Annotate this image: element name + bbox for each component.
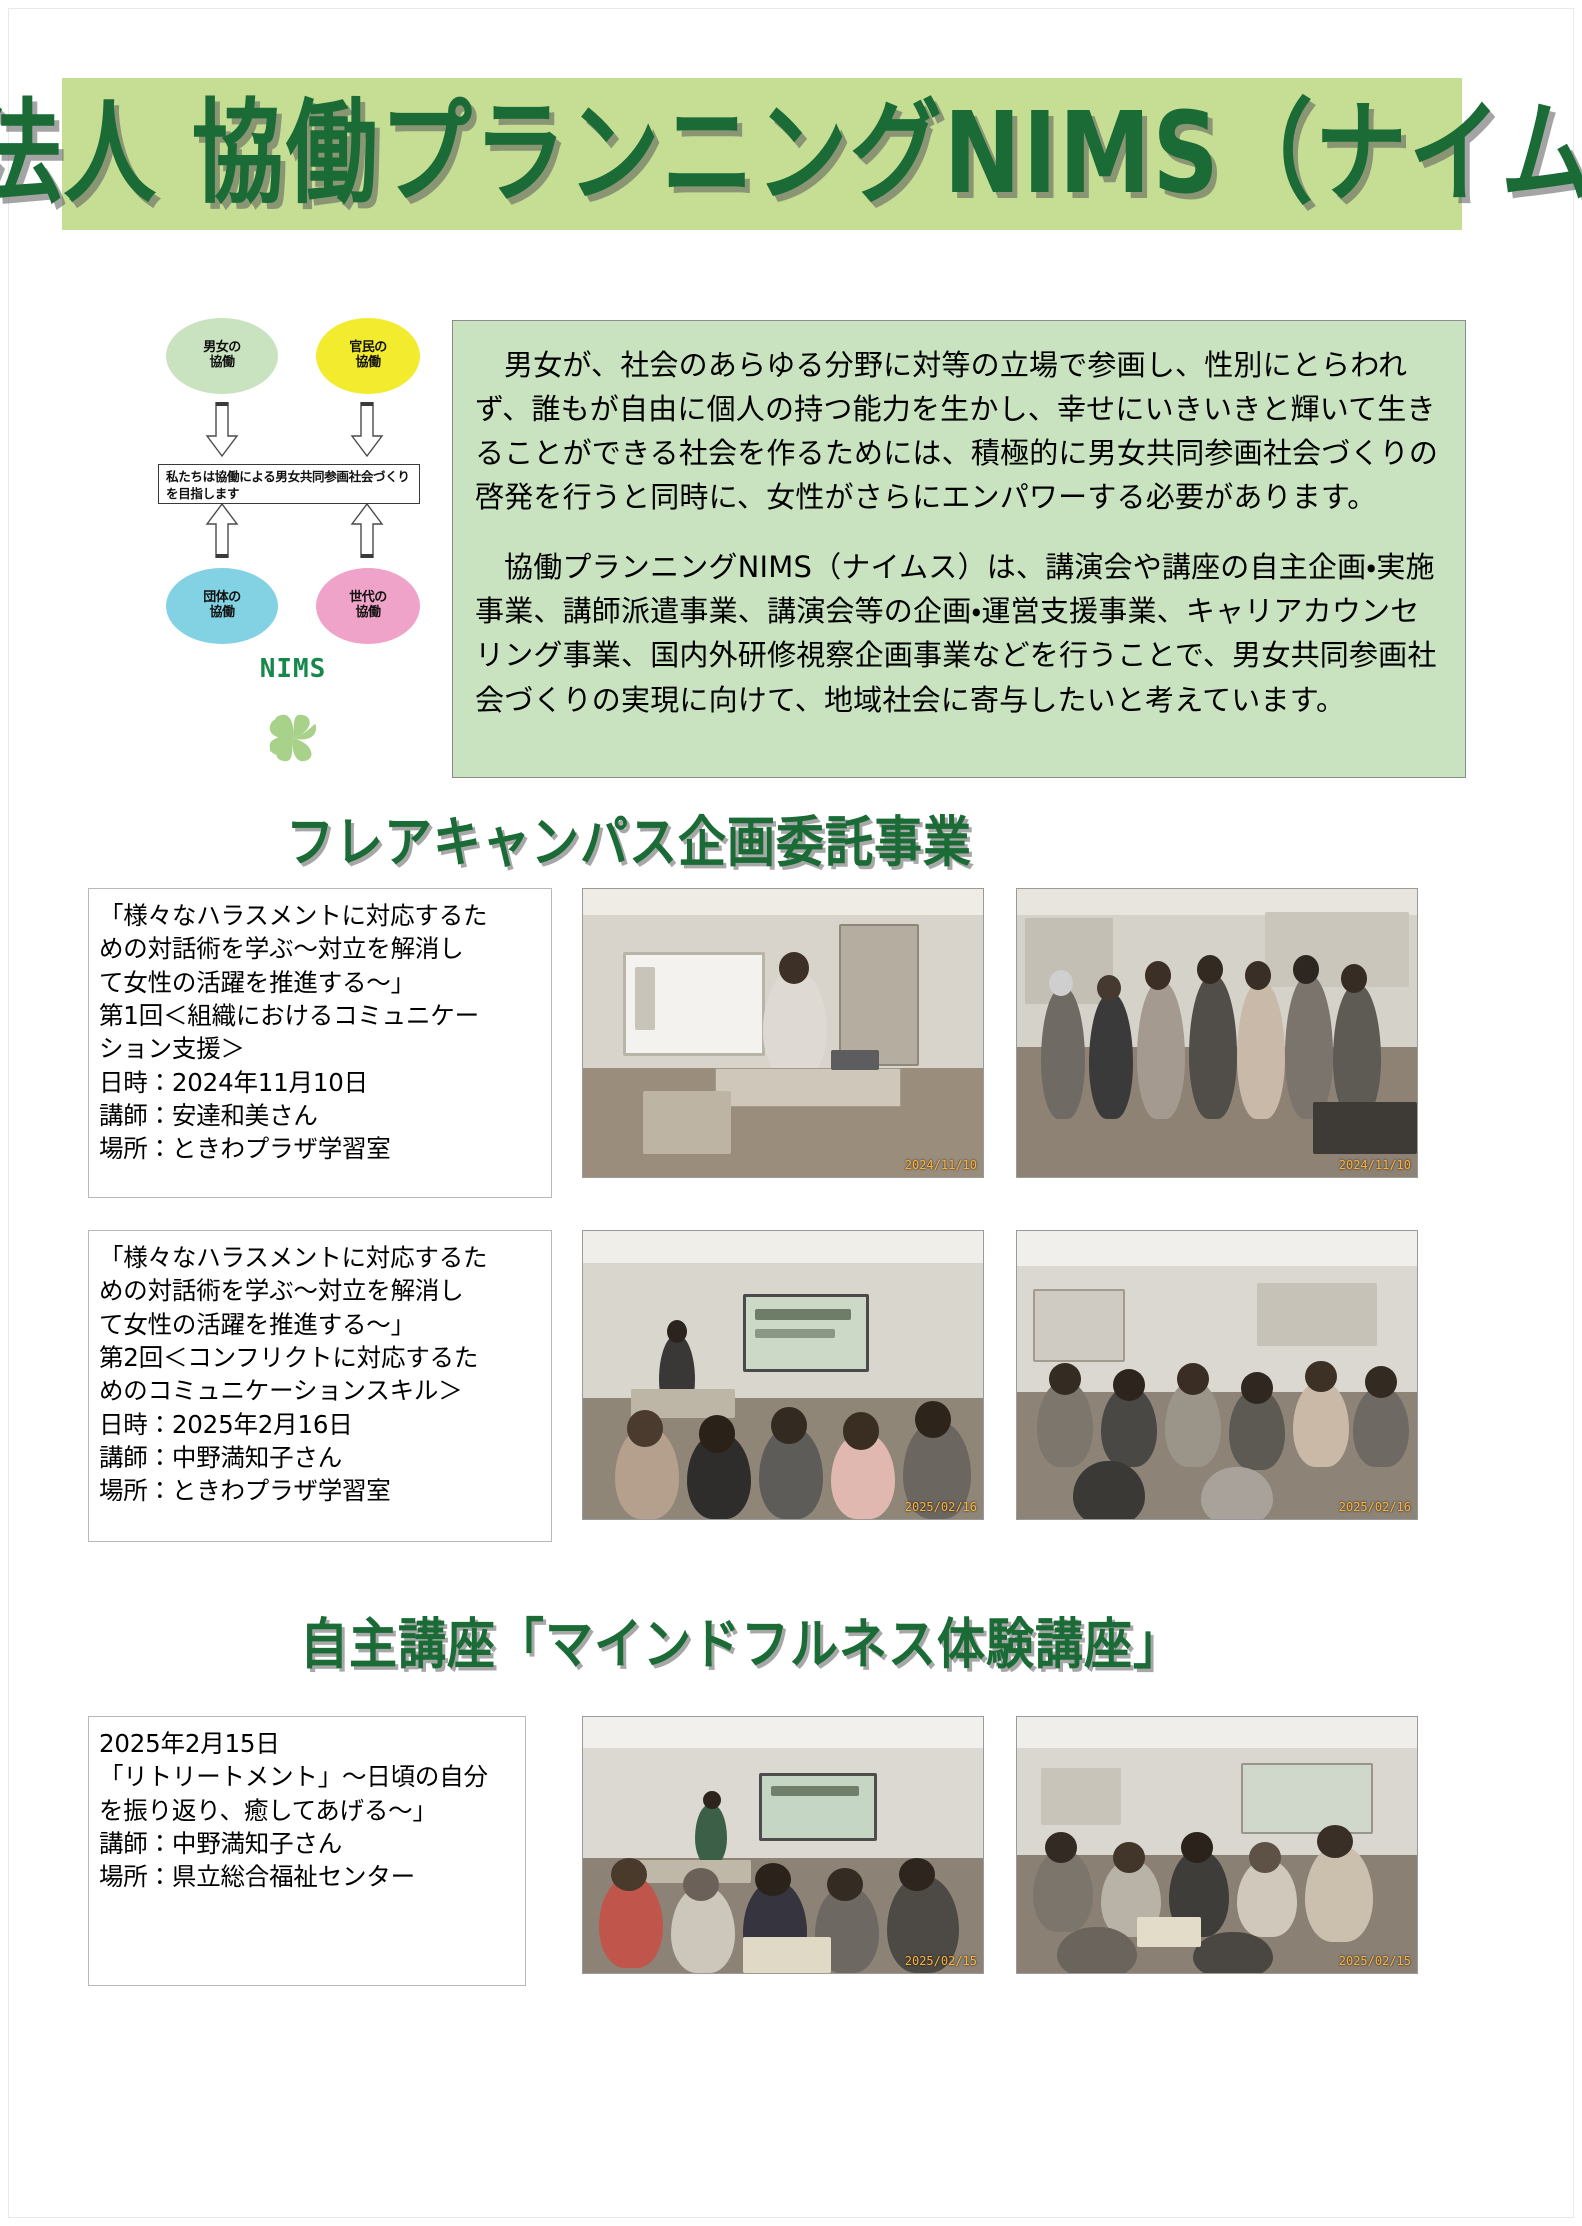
- event-2-photo-1: 2025/02/16: [582, 1230, 984, 1520]
- page-title: NPO法人 協働プランニングNIMS（ナイムス）: [0, 98, 1582, 210]
- event-2-line-1: 「様々なハラスメントに対応するた: [99, 1241, 543, 1274]
- poster-page: NPO法人 協働プランニングNIMS（ナイムス） 男女の 協働 官民の 協働 団…: [0, 0, 1582, 2226]
- event-2-line-3: て女性の活躍を推進する～」: [99, 1308, 543, 1341]
- diagram-center-line2: を目指します: [166, 486, 413, 503]
- diagram-node-danjo-line2: 協働: [203, 356, 241, 371]
- diagram-node-kanmin: 官民の 協働: [316, 318, 420, 394]
- event-3-lecturer: 講師：中野満知子さん: [99, 1827, 517, 1860]
- diagram-center-statement: 私たちは協働による男女共同参画社会づくり を目指します: [158, 464, 420, 504]
- event-3-line-2: 「リトリートメント」～日頃の自分: [99, 1760, 517, 1793]
- event-3-photo-1-timestamp: 2025/02/15: [905, 1954, 977, 1968]
- event-2-date: 日時：2025年2月16日: [99, 1408, 543, 1441]
- diagram-node-danjo-line1: 男女の: [203, 341, 241, 356]
- event-1-photo-1: 2024/11/10: [582, 888, 984, 1178]
- event-1-line-4: 第1回＜組織におけるコミュニケー: [99, 999, 543, 1032]
- event-1-photo-2: 2024/11/10: [1016, 888, 1418, 1178]
- concept-diagram: 男女の 協働 官民の 協働 団体の 協働 世代の 協働: [150, 318, 440, 768]
- event-2-description: 「様々なハラスメントに対応するた めの対話術を学ぶ～対立を解消し て女性の活躍を…: [88, 1230, 552, 1542]
- event-3-date: 2025年2月15日: [99, 1727, 517, 1760]
- diagram-node-dantai-line1: 団体の: [203, 591, 241, 606]
- diagram-node-kanmin-line1: 官民の: [349, 341, 387, 356]
- event-3-venue: 場所：県立総合福祉センター: [99, 1860, 517, 1893]
- event-3-photo-1: 2025/02/15: [582, 1716, 984, 1974]
- nims-logo-text: NIMS: [150, 654, 436, 684]
- section-heading-mindfulness: 自主講座「マインドフルネス体験講座」: [300, 1599, 1182, 1679]
- diagram-node-sedai: 世代の 協働: [316, 568, 420, 644]
- event-3-photo-2-timestamp: 2025/02/15: [1339, 1954, 1411, 1968]
- event-1-lecturer: 講師：安達和美さん: [99, 1099, 543, 1132]
- diagram-node-dantai: 団体の 協働: [166, 568, 278, 644]
- event-2-venue: 場所：ときわプラザ学習室: [99, 1474, 543, 1507]
- event-1-date: 日時：2024年11月10日: [99, 1066, 543, 1099]
- event-1-line-2: めの対話術を学ぶ～対立を解消し: [99, 932, 543, 965]
- event-2-line-2: めの対話術を学ぶ～対立を解消し: [99, 1274, 543, 1307]
- diagram-node-sedai-line1: 世代の: [349, 591, 387, 606]
- event-1-description: 「様々なハラスメントに対応するた めの対話術を学ぶ～対立を解消し て女性の活躍を…: [88, 888, 552, 1198]
- event-3-description: 2025年2月15日 「リトリートメント」～日頃の自分 を振り返り、癒してあげる…: [88, 1716, 526, 1986]
- diagram-node-kanmin-line2: 協働: [349, 356, 387, 371]
- diagram-node-dantai-line2: 協働: [203, 606, 241, 621]
- event-2-photo-1-timestamp: 2025/02/16: [905, 1500, 977, 1514]
- arrow-down-right-icon: [350, 402, 384, 458]
- event-2-photo-2: 2025/02/16: [1016, 1230, 1418, 1520]
- event-2-line-5: めのコミュニケーションスキル＞: [99, 1374, 543, 1407]
- arrow-up-right-icon: [350, 502, 384, 558]
- event-1-photo-2-timestamp: 2024/11/10: [1339, 1158, 1411, 1172]
- event-1-line-1: 「様々なハラスメントに対応するた: [99, 899, 543, 932]
- diagram-node-danjo: 男女の 協働: [166, 318, 278, 394]
- mission-paragraph-2: 協働プランニングNIMS（ナイムス）は、講演会や講座の自主企画・実施事業、講師派…: [475, 545, 1441, 721]
- mission-statement-box: 男女が、社会のあらゆる分野に対等の立場で参画し、性別にとらわれず、誰もが自由に個…: [452, 320, 1466, 778]
- event-3-line-3: を振り返り、癒してあげる～」: [99, 1794, 517, 1827]
- event-2-lecturer: 講師：中野満知子さん: [99, 1441, 543, 1474]
- arrow-up-left-icon: [205, 502, 239, 558]
- event-2-line-4: 第2回＜コンフリクトに対応するた: [99, 1341, 543, 1374]
- event-1-venue: 場所：ときわプラザ学習室: [99, 1132, 543, 1165]
- event-3-photo-2: 2025/02/15: [1016, 1716, 1418, 1974]
- mission-paragraph-1: 男女が、社会のあらゆる分野に対等の立場で参画し、性別にとらわれず、誰もが自由に個…: [475, 343, 1441, 519]
- event-1-line-3: て女性の活躍を推進する～」: [99, 966, 543, 999]
- section-heading-flair-campus: フレアキャンパス企画委託事業: [286, 797, 972, 877]
- title-banner: NPO法人 協働プランニングNIMS（ナイムス）: [62, 78, 1462, 230]
- event-1-line-5: ション支援＞: [99, 1032, 543, 1065]
- arrow-down-left-icon: [205, 402, 239, 458]
- four-leaf-clover-icon: [150, 690, 436, 786]
- event-2-photo-2-timestamp: 2025/02/16: [1339, 1500, 1411, 1514]
- diagram-node-sedai-line2: 協働: [349, 606, 387, 621]
- diagram-center-line1: 私たちは協働による男女共同参画社会づくり: [166, 469, 413, 486]
- event-1-photo-1-timestamp: 2024/11/10: [905, 1158, 977, 1172]
